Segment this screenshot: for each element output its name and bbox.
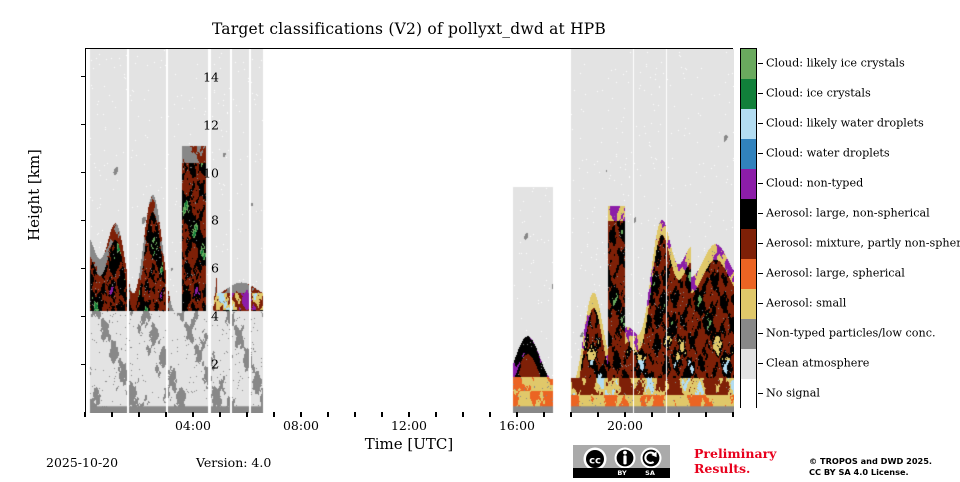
colorbar-tick xyxy=(758,243,763,244)
colorbar-label: Non-typed particles/low conc. xyxy=(766,327,936,340)
quicklook-figure: Target classifications (V2) of pollyxt_d… xyxy=(0,0,960,480)
svg-text:cc: cc xyxy=(589,456,601,467)
colorbar-tick xyxy=(758,123,763,124)
x-axis-tick-label: 12:00 xyxy=(391,418,427,433)
x-axis-tick xyxy=(381,412,382,417)
cc-sa-label: SA xyxy=(640,468,660,478)
page-title: Target classifications (V2) of pollyxt_d… xyxy=(85,20,733,38)
y-axis-tick-label: 8 xyxy=(211,213,219,228)
colorbar-band xyxy=(741,289,756,319)
x-axis-tick xyxy=(651,412,652,417)
y-axis-tick-label: 4 xyxy=(211,309,219,324)
y-axis-tick xyxy=(81,268,86,269)
colorbar-band xyxy=(741,49,756,79)
colorbar-band xyxy=(741,319,756,349)
colorbar-tick xyxy=(758,93,763,94)
y-axis-tick xyxy=(81,76,86,77)
x-axis-tick xyxy=(408,412,409,417)
x-axis-tick xyxy=(543,412,544,417)
x-axis-tick-label: 16:00 xyxy=(499,418,535,433)
colorbar-tick xyxy=(758,63,763,64)
x-axis-tick xyxy=(462,412,463,417)
x-axis-tick-label: 04:00 xyxy=(175,418,211,433)
colorbar-band xyxy=(741,109,756,139)
y-axis-tick xyxy=(81,220,86,221)
colorbar-label: Cloud: non-typed xyxy=(766,177,863,190)
colorbar-label: Clean atmosphere xyxy=(766,357,869,370)
colorbar-band xyxy=(741,349,756,379)
colorbar-label: Aerosol: mixture, partly non-spherical xyxy=(766,237,960,250)
x-axis-tick xyxy=(489,412,490,417)
x-axis-tick-label: 20:00 xyxy=(607,418,643,433)
y-axis-tick-label: 10 xyxy=(203,165,219,180)
colorbar-band xyxy=(741,379,756,409)
colorbar-label: Aerosol: large, spherical xyxy=(766,267,905,280)
x-axis-tick xyxy=(219,412,220,417)
colorbar-label: Aerosol: large, non-spherical xyxy=(766,207,930,220)
preliminary-results-note: Preliminary Results. xyxy=(694,447,790,477)
y-axis-tick xyxy=(81,316,86,317)
x-axis-tick xyxy=(192,412,193,417)
x-axis-tick xyxy=(570,412,571,417)
classification-heatmap xyxy=(86,49,734,413)
y-axis-tick-label: 2 xyxy=(211,357,219,372)
x-axis-tick xyxy=(678,412,679,417)
colorbar-band xyxy=(741,259,756,289)
colorbar-band xyxy=(741,79,756,109)
colorbar-tick xyxy=(758,333,763,334)
copyright-line-2: CC BY SA 4.0 License. xyxy=(809,467,932,478)
date-text: 2025-10-20 xyxy=(46,455,118,470)
y-axis-label: Height [km] xyxy=(25,125,43,265)
colorbar-label: Cloud: likely ice crystals xyxy=(766,57,905,70)
x-axis-tick xyxy=(138,412,139,417)
x-axis-tick xyxy=(516,412,517,417)
version-text: Version: 4.0 xyxy=(196,455,271,470)
y-axis-tick xyxy=(81,364,86,365)
copyright-line-1: © TROPOS and DWD 2025. xyxy=(809,456,932,467)
x-axis-tick xyxy=(624,412,625,417)
x-axis-tick xyxy=(273,412,274,417)
creative-commons-badge: cc BY SA xyxy=(573,445,670,478)
y-axis-tick-label: 6 xyxy=(211,261,219,276)
y-axis-tick xyxy=(81,172,86,173)
y-axis-tick-label: 14 xyxy=(203,69,219,84)
colorbar-band xyxy=(741,169,756,199)
colorbar-band xyxy=(741,139,756,169)
colorbar-tick xyxy=(758,363,763,364)
copyright-text: © TROPOS and DWD 2025. CC BY SA 4.0 Lice… xyxy=(809,456,932,479)
colorbar-label: Cloud: ice crystals xyxy=(766,87,871,100)
x-axis-tick xyxy=(84,412,85,417)
colorbar-label: Cloud: likely water droplets xyxy=(766,117,924,130)
colorbar-tick xyxy=(758,393,763,394)
colorbar-band xyxy=(741,229,756,259)
x-axis-tick xyxy=(327,412,328,417)
colorbar-tick xyxy=(758,213,763,214)
colorbar xyxy=(740,48,757,408)
colorbar-tick xyxy=(758,153,763,154)
colorbar-label: No signal xyxy=(766,387,820,400)
x-axis-tick xyxy=(705,412,706,417)
x-axis-tick xyxy=(597,412,598,417)
colorbar-tick xyxy=(758,183,763,184)
colorbar-label: Aerosol: small xyxy=(766,297,846,310)
x-axis-tick-label: 08:00 xyxy=(283,418,319,433)
plot-area xyxy=(85,48,733,412)
colorbar-tick xyxy=(758,273,763,274)
colorbar-tick xyxy=(758,303,763,304)
x-axis-tick xyxy=(246,412,247,417)
x-axis-tick xyxy=(435,412,436,417)
x-axis-tick xyxy=(111,412,112,417)
colorbar-label: Cloud: water droplets xyxy=(766,147,890,160)
y-axis-tick xyxy=(81,124,86,125)
cc-by-label: BY xyxy=(612,468,632,478)
x-axis-tick xyxy=(300,412,301,417)
y-axis-tick-label: 12 xyxy=(203,117,219,132)
colorbar-band xyxy=(741,199,756,229)
x-axis-tick xyxy=(165,412,166,417)
x-axis-tick xyxy=(732,412,733,417)
x-axis-tick xyxy=(354,412,355,417)
